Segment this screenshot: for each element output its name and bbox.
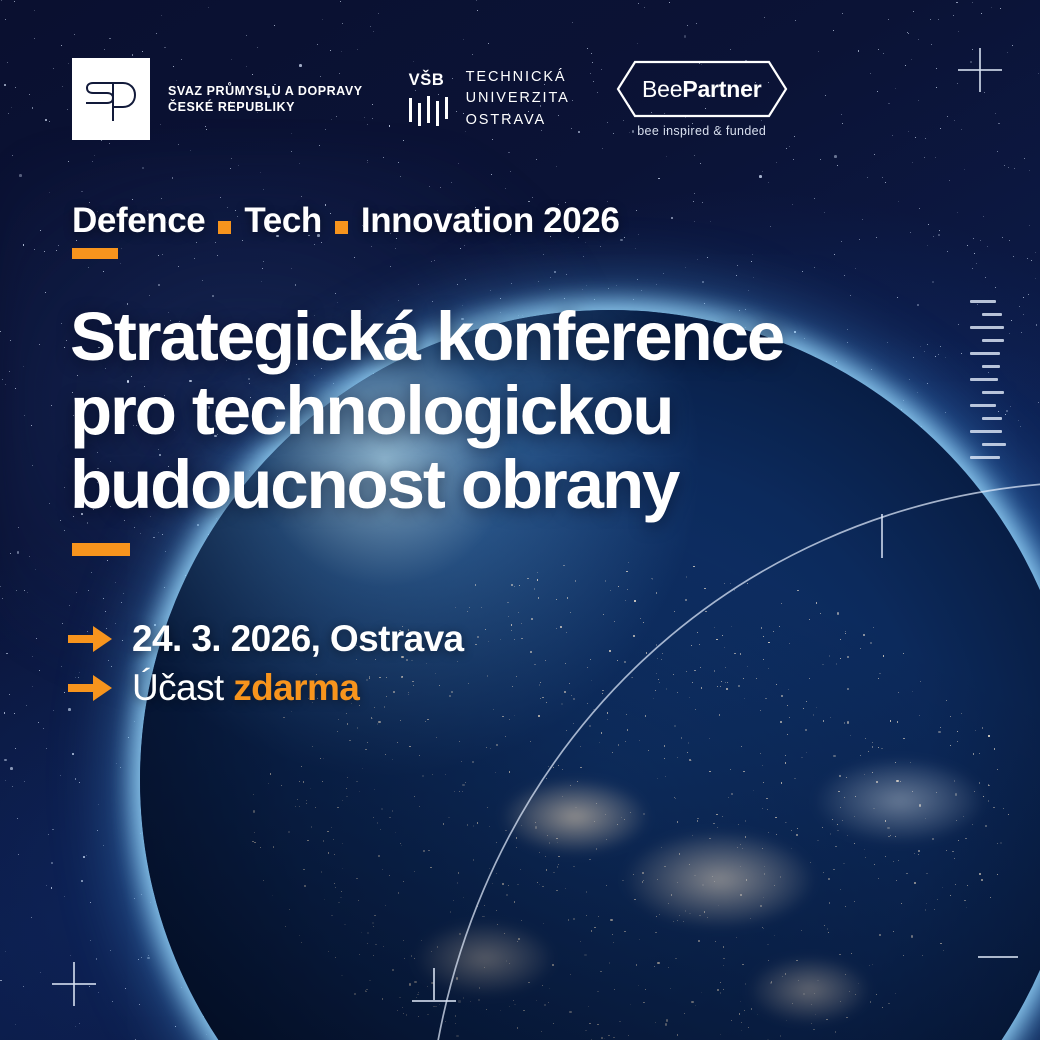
event-details: 24. 3. 2026, Ostrava Účast zdarma — [68, 620, 464, 708]
detail-date-location-text: 24. 3. 2026, Ostrava — [132, 620, 464, 659]
beepartner-hexagon-frame: BeePartner — [616, 60, 788, 118]
poster-content: SVAZ PRŮMYSLU A DOPRAVY ČESKÉ REPUBLIKY … — [0, 0, 1040, 1040]
eyebrow-word-tech: Tech — [244, 203, 322, 238]
detail-admission: Účast zdarma — [68, 669, 464, 708]
vsb-abbreviation: VŠB — [409, 72, 445, 89]
admission-prefix: Účast — [132, 667, 233, 708]
beepartner-name-bold: Partner — [682, 76, 761, 102]
event-series-title: Defence Tech Innovation 2026 — [72, 203, 619, 259]
eyebrow-word-defence: Defence — [72, 203, 205, 238]
eyebrow-separator-dot — [335, 221, 348, 234]
beepartner-wordmark: BeePartner — [642, 78, 761, 101]
accent-rule-large — [72, 543, 130, 556]
admission-highlight: zdarma — [233, 667, 359, 708]
detail-admission-text: Účast zdarma — [132, 669, 359, 708]
logo-svaz-prumyslu: SVAZ PRŮMYSLU A DOPRAVY ČESKÉ REPUBLIKY — [72, 58, 363, 140]
eyebrow-separator-dot — [218, 221, 231, 234]
eyebrow-word-innovation-year: Innovation 2026 — [361, 203, 620, 238]
accent-rule-small — [72, 248, 118, 259]
vsb-mark-group: VŠB — [409, 72, 453, 126]
page-title: Strategická konference pro technologicko… — [70, 300, 950, 521]
arrow-right-icon — [68, 622, 112, 656]
arrow-right-icon — [68, 671, 112, 705]
detail-date-location: 24. 3. 2026, Ostrava — [68, 620, 464, 659]
headline-line-2: pro technologickou — [70, 374, 950, 448]
headline-line-1: Strategická konference — [70, 300, 950, 374]
beepartner-tagline: bee inspired & funded — [637, 124, 766, 138]
sp-monogram-icon — [83, 76, 139, 122]
vsb-logo-name: TECHNICKÁ UNIVERZITA OSTRAVA — [466, 67, 570, 130]
sp-monogram-box — [72, 58, 150, 140]
conference-poster: SVAZ PRŮMYSLU A DOPRAVY ČESKÉ REPUBLIKY … — [0, 0, 1040, 1040]
logo-vsb-ostrava: VŠB TECHNICKÁ UNIVERZITA OSTRAVA — [409, 67, 570, 130]
vsb-bars-icon — [409, 96, 453, 126]
logo-bar: SVAZ PRŮMYSLU A DOPRAVY ČESKÉ REPUBLIKY … — [72, 58, 788, 140]
sp-logo-name: SVAZ PRŮMYSLU A DOPRAVY ČESKÉ REPUBLIKY — [168, 83, 363, 115]
logo-beepartner: BeePartner bee inspired & funded — [616, 60, 788, 138]
beepartner-name-light: Bee — [642, 76, 682, 102]
headline-line-3: budoucnost obrany — [70, 448, 950, 522]
